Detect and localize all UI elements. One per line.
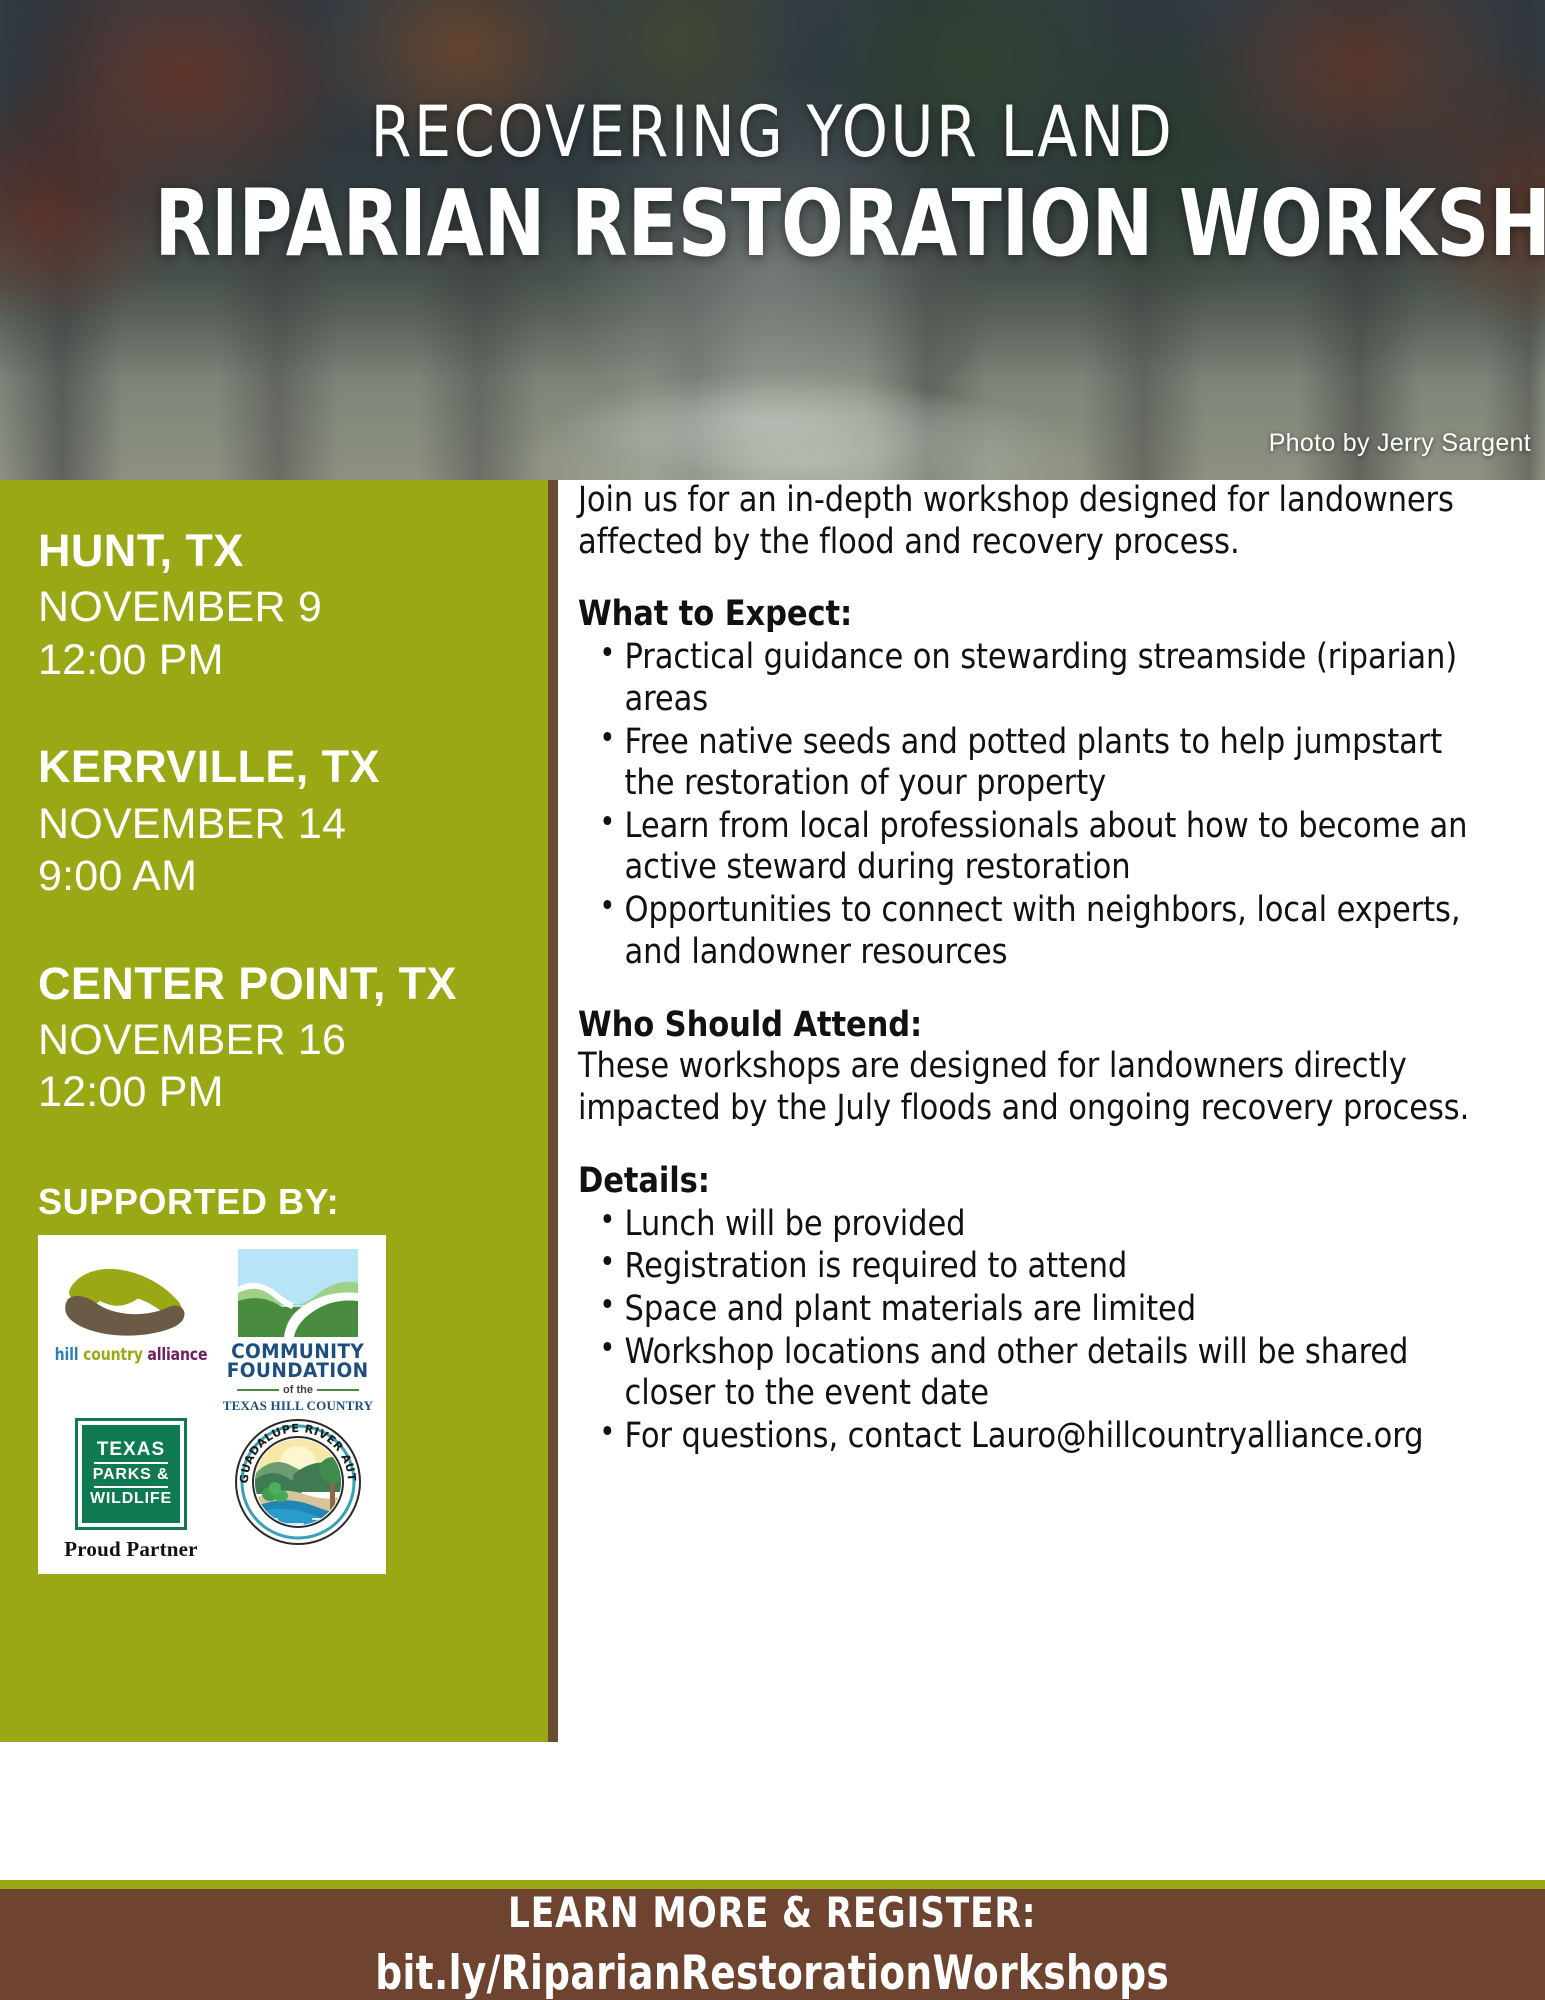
- main-content: Join us for an in-depth workshop designe…: [578, 480, 1508, 1459]
- spacer: [578, 563, 1508, 593]
- photo-credit: Photo by Jerry Sargent: [1269, 429, 1531, 458]
- list-details: Lunch will be provided Registration is r…: [578, 1204, 1480, 1458]
- hills-and-river-icon: [238, 1249, 358, 1337]
- sponsor-logo-panel: hill country alliance COMMUNITY FOUNDATI…: [38, 1235, 386, 1574]
- tpw-line-parks: PARKS &: [93, 1467, 169, 1483]
- logo-community-foundation: COMMUNITY FOUNDATION of the TEXAS HILL C…: [220, 1249, 376, 1414]
- cf-connector-row: of the: [237, 1384, 359, 1396]
- hca-wordmark: hill country alliance: [55, 1345, 208, 1365]
- event-date: NOVEMBER 14: [38, 798, 510, 850]
- event-city: CENTER POINT, TX: [38, 959, 510, 1009]
- cf-connector-text: of the: [283, 1384, 313, 1396]
- event-date: NOVEMBER 9: [38, 581, 510, 633]
- cf-title-block: COMMUNITY FOUNDATION: [227, 1342, 369, 1381]
- tpw-proud-partner-caption: Proud Partner: [64, 1537, 197, 1562]
- event-time: 12:00 PM: [38, 634, 510, 686]
- tpw-line-texas: TEXAS: [97, 1440, 165, 1459]
- tpw-line-wildlife: WILDLIFE: [90, 1491, 172, 1507]
- events-sidebar: HUNT, TX NOVEMBER 9 12:00 PM KERRVILLE, …: [0, 480, 548, 1742]
- list-what-to-expect: Practical guidance on stewarding streams…: [578, 637, 1480, 973]
- event-time: 12:00 PM: [38, 1066, 510, 1118]
- list-item: Opportunities to connect with neighbors,…: [578, 890, 1480, 973]
- tpw-emblem: TEXAS PARKS & WILDLIFE: [75, 1418, 187, 1530]
- list-item: Workshop locations and other details wil…: [578, 1332, 1480, 1415]
- list-item: Lunch will be provided: [578, 1204, 1480, 1246]
- list-item: Practical guidance on stewarding streams…: [578, 637, 1480, 720]
- event-item: HUNT, TX NOVEMBER 9 12:00 PM: [38, 526, 510, 686]
- tpw-divider: [94, 1462, 168, 1464]
- hero-title-line1: RECOVERING YOUR LAND: [124, 96, 1422, 169]
- heading-details: Details:: [578, 1160, 1480, 1202]
- ugra-seal-icon: UPPER GUADALUPE RIVER AUTHORITY: [234, 1418, 362, 1546]
- footer-cta-label: LEARN MORE & REGISTER:: [508, 1888, 1036, 1937]
- tpw-emblem-inner: TEXAS PARKS & WILDLIFE: [82, 1425, 180, 1523]
- event-item: KERRVILLE, TX NOVEMBER 14 9:00 AM: [38, 742, 510, 902]
- intro-paragraph: Join us for an in-depth workshop designe…: [578, 480, 1480, 563]
- supported-by-label: SUPPORTED BY:: [38, 1181, 510, 1223]
- hero-banner: RECOVERING YOUR LAND RIPARIAN RESTORATIO…: [0, 0, 1545, 480]
- hca-word-alliance: alliance: [147, 1345, 207, 1365]
- spacer: [578, 974, 1508, 1004]
- heading-what-to-expect: What to Expect:: [578, 593, 1480, 635]
- tpw-divider: [94, 1486, 168, 1488]
- event-item: CENTER POINT, TX NOVEMBER 16 12:00 PM: [38, 959, 510, 1119]
- cf-rule-left: [237, 1389, 279, 1391]
- hero-title-block: RECOVERING YOUR LAND RIPARIAN RESTORATIO…: [0, 96, 1545, 272]
- heading-who-should-attend: Who Should Attend:: [578, 1004, 1480, 1046]
- who-should-attend-paragraph: These workshops are designed for landown…: [578, 1046, 1480, 1129]
- cf-line-foundation: FOUNDATION: [227, 1361, 369, 1381]
- spacer: [578, 1130, 1508, 1160]
- cf-rule-right: [317, 1389, 359, 1391]
- cf-line-texas-hill-country: TEXAS HILL COUNTRY: [223, 1398, 374, 1414]
- logo-texas-parks-wildlife: TEXAS PARKS & WILDLIFE Proud Partner: [48, 1418, 214, 1562]
- list-item: Free native seeds and potted plants to h…: [578, 722, 1480, 805]
- footer-register-bar: LEARN MORE & REGISTER: bit.ly/RiparianRe…: [0, 1889, 1545, 2000]
- event-city: KERRVILLE, TX: [38, 742, 510, 792]
- hand-holding-hill-icon: [56, 1249, 206, 1341]
- list-item: Registration is required to attend: [578, 1246, 1480, 1288]
- list-item: Learn from local professionals about how…: [578, 806, 1480, 889]
- list-item-contact: For questions, contact Lauro@hillcountry…: [578, 1416, 1480, 1458]
- cf-line-community: COMMUNITY: [227, 1342, 369, 1362]
- list-item: Space and plant materials are limited: [578, 1289, 1480, 1331]
- logo-upper-guadalupe-river-authority: UPPER GUADALUPE RIVER AUTHORITY: [220, 1418, 376, 1562]
- hero-title-line2: RIPARIAN RESTORATION WORKSHOPS: [155, 175, 1391, 273]
- footer-registration-link[interactable]: bit.ly/RiparianRestorationWorkshops: [376, 1946, 1170, 2000]
- logo-hill-country-alliance: hill country alliance: [48, 1249, 214, 1414]
- event-time: 9:00 AM: [38, 850, 510, 902]
- hca-word-country: country: [83, 1345, 143, 1365]
- flyer-page: RECOVERING YOUR LAND RIPARIAN RESTORATIO…: [0, 0, 1545, 2000]
- hca-word-hill: hill: [55, 1345, 79, 1365]
- event-date: NOVEMBER 16: [38, 1014, 510, 1066]
- event-city: HUNT, TX: [38, 526, 510, 576]
